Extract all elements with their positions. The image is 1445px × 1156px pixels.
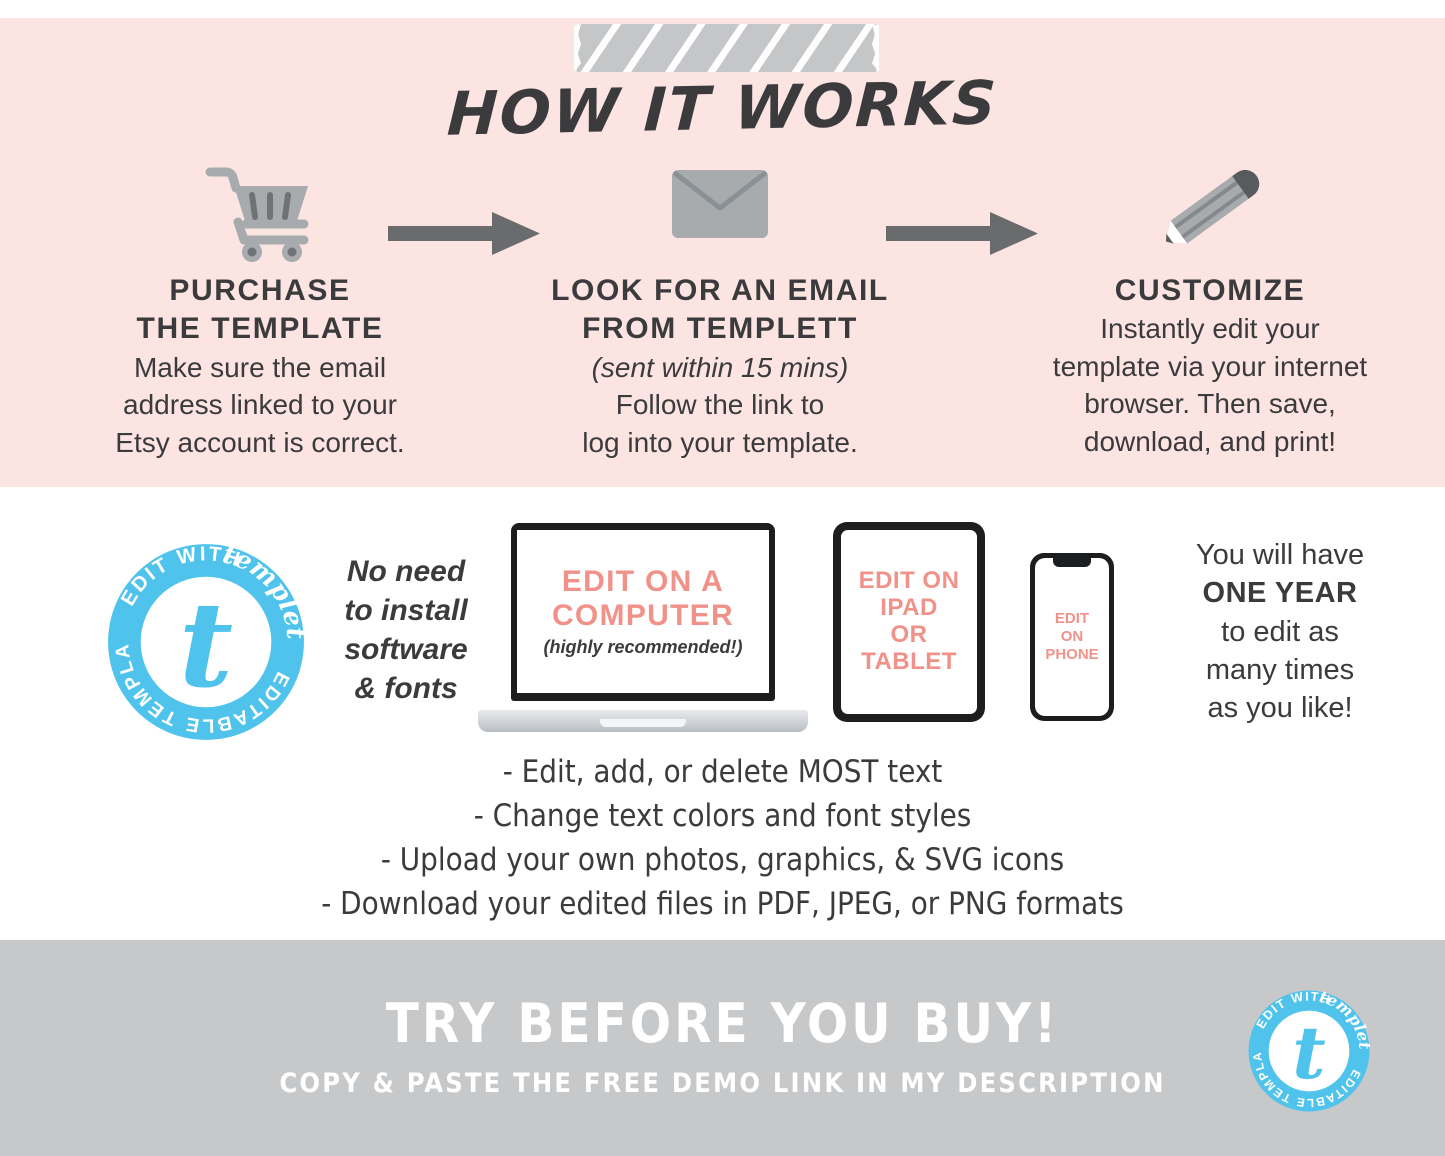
laptop-mockup: EDIT ON A COMPUTER (highly recommended!) [478,523,808,738]
one-year-highlight: ONE YEAR [1125,574,1435,612]
step-body: (sent within 15 mins) Follow the link to… [495,349,945,462]
step-purchase: PURCHASE THE TEMPLATE Make sure the emai… [55,158,465,461]
laptop-headline: EDIT ON A COMPUTER [552,565,734,632]
step-note: (sent within 15 mins) [495,349,945,387]
no-install-text: No need to install software & fonts [326,552,486,708]
phone-mockup: EDIT ON PHONE [1030,553,1114,721]
step-body: Instantly edit your template via your in… [995,310,1425,460]
templett-badge: EDIT WITH templett EDITABLE TEMPLATE t [104,540,308,744]
phone-screen: EDIT ON PHONE [1035,558,1109,716]
page-title: HOW IT WORKS [0,59,1445,159]
pencil-icon [995,158,1425,268]
footer-headline: TRY BEFORE YOU BUY! [0,992,1445,1055]
laptop-subtext: (highly recommended!) [543,637,742,658]
feature-list: - Edit, add, or delete MOST text - Chang… [0,750,1445,926]
svg-text:t: t [1292,1011,1325,1096]
step-customize: CUSTOMIZE Instantly edit your template v… [995,158,1425,460]
how-it-works-section: HOW IT WORKS PURCHASE TH [0,18,1445,487]
laptop-lid: EDIT ON A COMPUTER (highly recommended!) [511,523,775,701]
phone-body: EDIT ON PHONE [1030,553,1114,721]
list-item: - Change text colors and font styles [0,794,1445,838]
try-before-you-buy-banner: TRY BEFORE YOU BUY! COPY & PASTE THE FRE… [0,940,1445,1156]
laptop-screen: EDIT ON A COMPUTER (highly recommended!) [517,530,769,693]
phone-text: EDIT ON PHONE [1045,610,1098,663]
list-item: - Download your edited files in PDF, JPE… [0,882,1445,926]
how-it-works-infographic: HOW IT WORKS PURCHASE TH [0,0,1445,1156]
step-look-for-email: LOOK FOR AN EMAIL FROM TEMPLETT (sent wi… [495,158,945,461]
templett-badge-footer: EDIT WITH templett EDITABLE TEMPLATE t [1246,988,1372,1114]
footer-subline: COPY & PASTE THE FREE DEMO LINK IN MY DE… [0,1068,1445,1099]
laptop-trackpad-notch [600,719,686,727]
one-year-text: You will have ONE YEAR to edit as many t… [1125,536,1435,727]
tablet-body: EDIT ON IPAD OR TABLET [833,522,985,722]
tablet-text: EDIT ON IPAD OR TABLET [859,568,960,676]
step-body: Make sure the email address linked to yo… [55,349,465,462]
washi-tape-icon [577,24,876,72]
tablet-screen: EDIT ON IPAD OR TABLET [841,530,977,714]
envelope-icon [495,158,945,268]
list-item: - Edit, add, or delete MOST text [0,750,1445,794]
step-title: CUSTOMIZE [995,272,1425,310]
svg-text:t: t [179,576,233,714]
step-title: PURCHASE THE TEMPLATE [55,272,465,349]
phone-notch-icon [1053,558,1091,567]
tablet-mockup: EDIT ON IPAD OR TABLET [833,522,985,722]
step-title: LOOK FOR AN EMAIL FROM TEMPLETT [495,272,945,349]
list-item: - Upload your own photos, graphics, & SV… [0,838,1445,882]
